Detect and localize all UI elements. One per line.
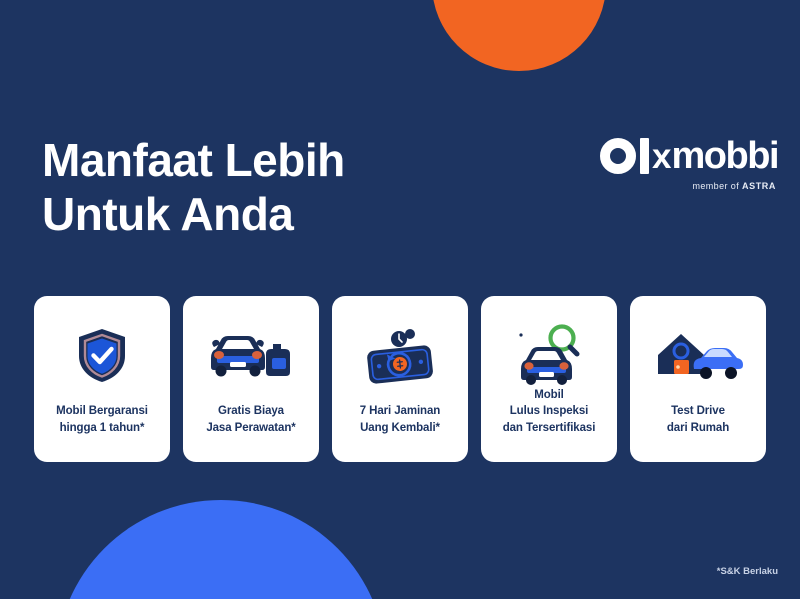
- card-text-line-2: dari Rumah: [667, 420, 729, 436]
- card-text-line-2: Jasa Perawatan*: [206, 420, 295, 436]
- benefit-card-label: Test Drive dari Rumah: [661, 403, 735, 436]
- card-text-line-2: hingga 1 tahun*: [56, 420, 148, 436]
- car-oil-service-icon: [205, 324, 297, 386]
- brand-logo[interactable]: x mobbi member of ASTRA: [600, 134, 778, 191]
- logo-wordmark: mobbi: [672, 137, 778, 175]
- card-text-line-3: dan Tersertifikasi: [503, 420, 596, 436]
- card-text-line-1: Mobil Bergaransi: [56, 403, 148, 419]
- card-text-line-1: 7 Hari Jaminan: [360, 403, 440, 419]
- promo-banner: Manfaat Lebih Untuk Anda x mobbi member …: [0, 0, 800, 599]
- blue-circle-decor: [56, 500, 386, 599]
- orange-circle-decor: [432, 0, 606, 71]
- benefit-card-label: Mobil Bergaransi hingga 1 tahun*: [50, 403, 154, 436]
- card-text-line-1: Test Drive: [667, 403, 729, 419]
- logo-l-bar-icon: [640, 138, 649, 174]
- home-test-drive-icon: [652, 324, 744, 386]
- money-back-icon: [360, 324, 440, 386]
- benefit-card-inspection[interactable]: Mobil Lulus Inspeksi dan Tersertifikasi: [481, 296, 617, 462]
- logo-member-prefix: member of: [692, 181, 742, 191]
- card-text-line-1: Gratis Biaya: [206, 403, 295, 419]
- benefit-card-label: Gratis Biaya Jasa Perawatan*: [200, 403, 301, 436]
- logo-member-brand: ASTRA: [742, 181, 776, 191]
- headline-line-1: Manfaat Lebih: [42, 133, 345, 187]
- page-title: Manfaat Lebih Untuk Anda: [42, 133, 345, 242]
- benefit-card-label: Mobil Lulus Inspeksi dan Tersertifikasi: [497, 387, 602, 436]
- shield-check-icon: [74, 324, 130, 386]
- logo-mark: x mobbi: [600, 134, 778, 178]
- benefit-card-warranty[interactable]: Mobil Bergaransi hingga 1 tahun*: [34, 296, 170, 462]
- terms-footnote: *S&K Berlaku: [717, 566, 778, 577]
- headline-line-2: Untuk Anda: [42, 187, 345, 241]
- logo-letter-x: x: [652, 139, 670, 174]
- benefit-card-money-back[interactable]: 7 Hari Jaminan Uang Kembali*: [332, 296, 468, 462]
- benefit-card-home-test-drive[interactable]: Test Drive dari Rumah: [630, 296, 766, 462]
- card-text-line-1: Mobil: [503, 387, 596, 403]
- card-text-line-2: Lulus Inspeksi: [503, 403, 596, 419]
- card-text-line-2: Uang Kembali*: [360, 420, 440, 436]
- logo-o-ring-icon: [600, 138, 636, 174]
- logo-member-line: member of ASTRA: [600, 181, 778, 191]
- benefit-card-free-service[interactable]: Gratis Biaya Jasa Perawatan*: [183, 296, 319, 462]
- benefit-card-label: 7 Hari Jaminan Uang Kembali*: [354, 403, 446, 436]
- car-inspection-magnifier-icon: [510, 324, 588, 386]
- benefit-cards: Mobil Bergaransi hingga 1 tahun*: [34, 296, 767, 462]
